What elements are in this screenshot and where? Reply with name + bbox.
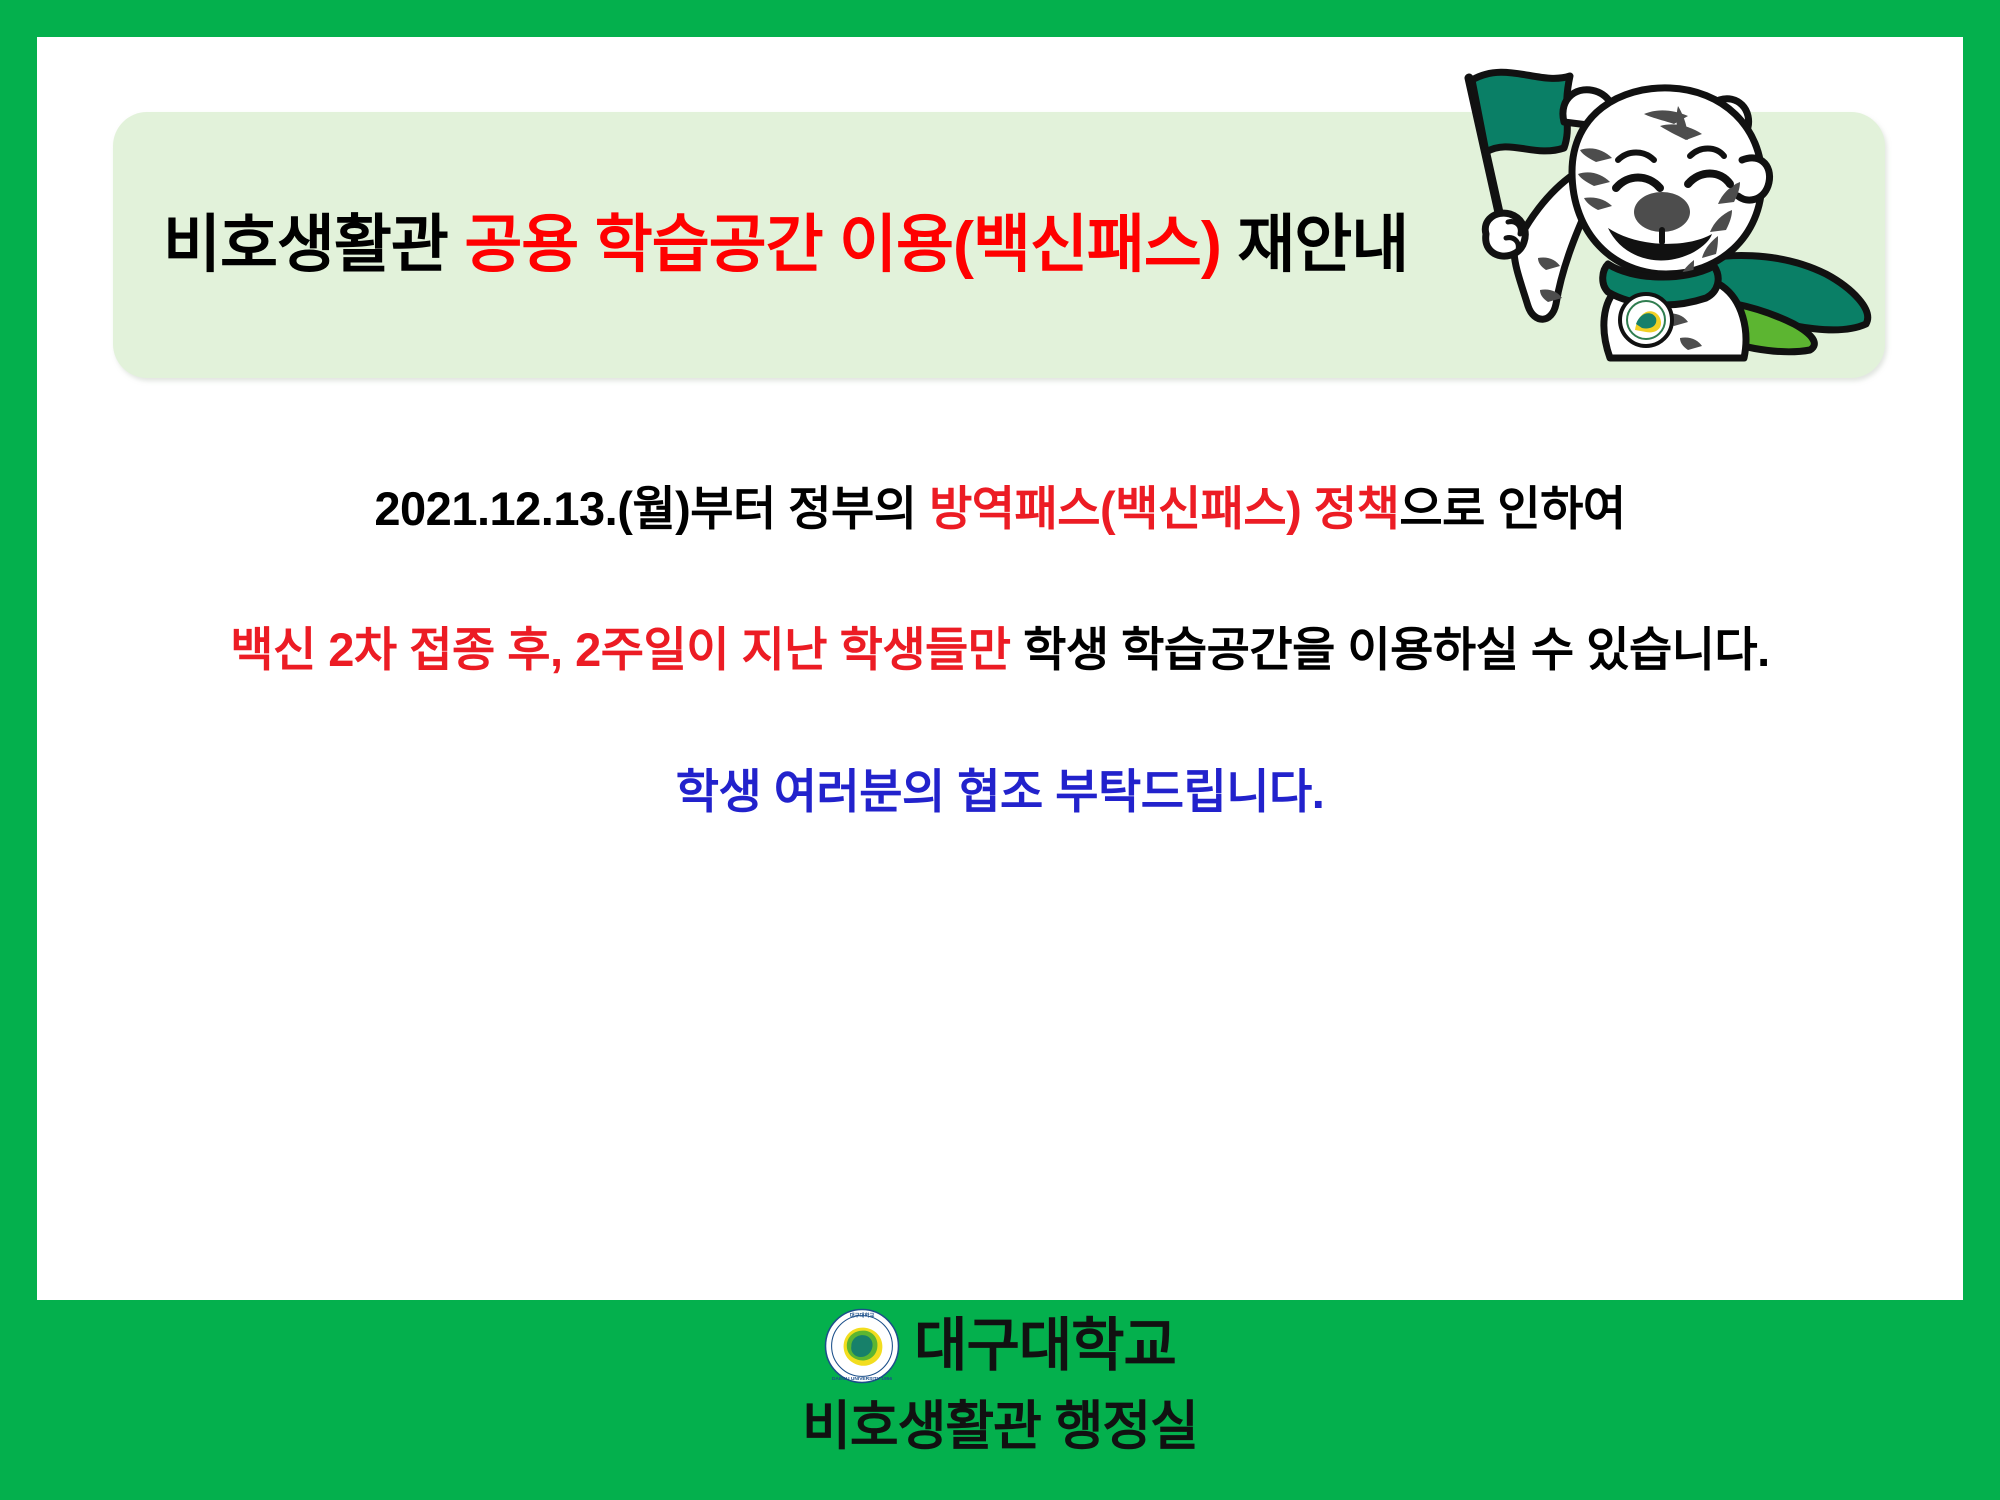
office-name: 비호생활관 행정실 xyxy=(0,1400,2000,1453)
notice-line-2: 백신 2차 접종 후, 2주일이 지난 학생들만 학생 학습공간을 이용하실 수… xyxy=(37,618,1963,681)
svg-text:DAEGU UNIVERSITY 1956: DAEGU UNIVERSITY 1956 xyxy=(832,1376,892,1382)
header-banner: 비호생활관 공용 학습공간 이용(백신패스) 재안내 xyxy=(113,112,1885,378)
notice-line-1: 2021.12.13.(월)부터 정부의 방역패스(백신패스) 정책으로 인하여 xyxy=(37,477,1963,540)
poster-canvas: 비호생활관 공용 학습공간 이용(백신패스) 재안내 xyxy=(0,0,2000,1500)
poster-footer: 대구대학교 DAEGU UNIVERSITY 1956 대구대학교 비호생활관 … xyxy=(0,1300,2000,1500)
line1-black-suffix: 으로 인하여 xyxy=(1399,482,1625,535)
notice-body: 2021.12.13.(월)부터 정부의 방역패스(백신패스) 정책으로 인하여… xyxy=(37,437,1963,823)
daegu-university-seal-icon: 대구대학교 DAEGU UNIVERSITY 1956 xyxy=(824,1308,900,1384)
line3-blue-request: 학생 여러분의 협조 부탁드립니다. xyxy=(676,765,1325,818)
title-segment-black-suffix: 재안내 xyxy=(1221,210,1408,280)
line1-red-emphasis: 방역패스(백신패스) 정책 xyxy=(929,482,1399,535)
content-sheet: 비호생활관 공용 학습공간 이용(백신패스) 재안내 xyxy=(37,37,1963,1300)
title-segment-black-prefix: 비호생활관 xyxy=(163,210,464,280)
page-title: 비호생활관 공용 학습공간 이용(백신패스) 재안내 xyxy=(163,209,1408,281)
notice-line-3: 학생 여러분의 협조 부탁드립니다. xyxy=(37,760,1963,823)
university-brand: 대구대학교 DAEGU UNIVERSITY 1956 대구대학교 xyxy=(0,1300,2000,1392)
title-segment-highlight: 공용 학습공간 이용(백신패스) xyxy=(464,210,1221,280)
line2-red-emphasis: 백신 2차 접종 후, 2주일이 지난 학생들만 xyxy=(230,623,1010,676)
university-name: 대구대학교 xyxy=(914,1317,1176,1375)
line2-black-suffix: 학생 학습공간을 이용하실 수 있습니다. xyxy=(1011,623,1770,676)
line1-black-prefix: 2021.12.13.(월)부터 정부의 xyxy=(374,482,929,535)
